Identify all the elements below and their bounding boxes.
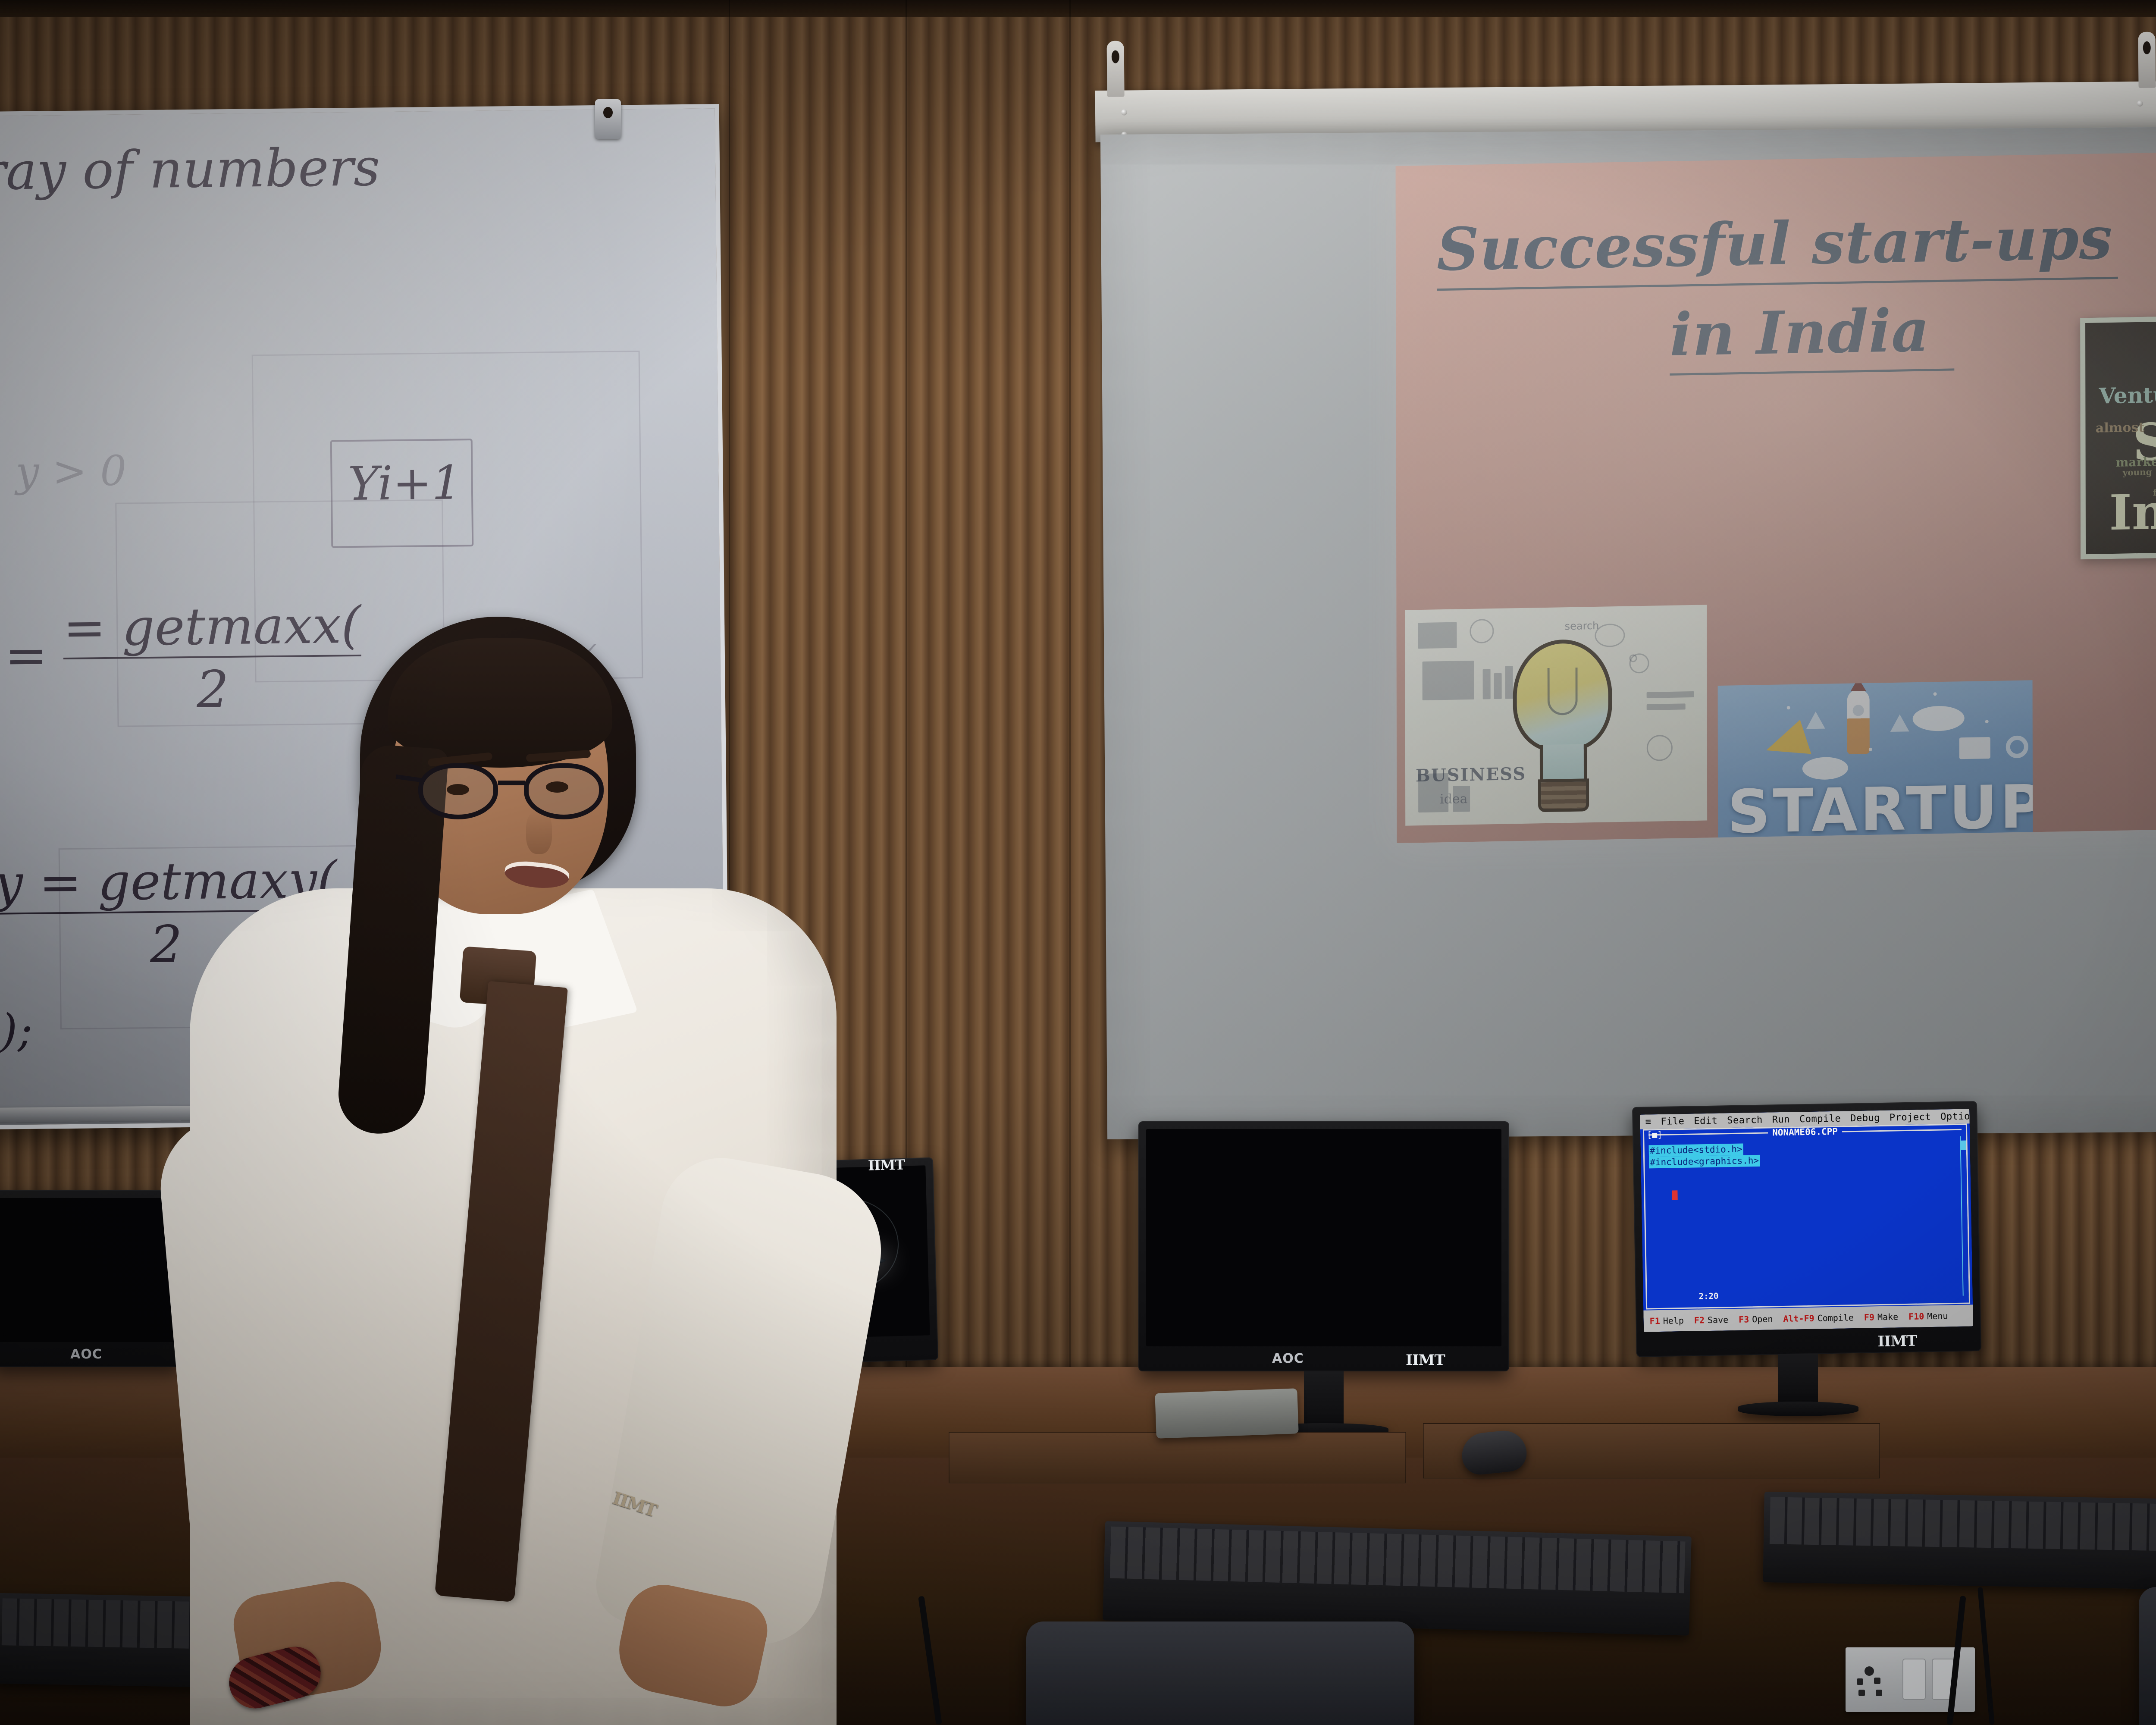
chair[interactable] [2139,1587,2156,1725]
word-cloud-term: Venture [2099,383,2156,407]
ide-cursor-position: 2:20 [1698,1292,1718,1302]
monitor-4-tag: IIMT [1877,1333,1917,1351]
paper-plane-icon [1761,720,1811,768]
ide-code-line-1: #include<stdio.h> [1649,1144,1743,1157]
lightbulb-base [1538,778,1589,812]
ide-status-f9: F9Make [1864,1311,1899,1322]
glasses-bridge [498,781,525,785]
ide-edit-window[interactable]: NONAME06.CPP [■] #include<stdio.h> #incl… [1643,1123,1970,1309]
ide-menu-compile[interactable]: Compile [1799,1113,1841,1125]
chair[interactable] [1026,1621,1414,1725]
keyboard-keys[interactable] [1110,1527,1686,1593]
ide-menu-system-icon[interactable]: ≡ [1645,1117,1651,1127]
keyboard-tray[interactable] [1103,1521,1692,1636]
word-cloud-term: almost [2096,421,2144,435]
eye-left [447,784,469,795]
word-cloud-term: face [2153,488,2156,497]
monitor-1: AOC [0,1190,181,1367]
ide-menu-search[interactable]: Search [1727,1114,1763,1126]
desk-panel [949,1432,1406,1483]
glasses [418,763,604,819]
lightbulb-neck [1540,744,1587,782]
turbo-cpp-ide[interactable]: ≡ File Edit Search Run Compile Debug Pro… [1640,1109,1973,1332]
gear-icon [2006,735,2028,758]
ide-code-line-2: #include<graphics.h> [1649,1155,1760,1168]
monitor-3: AOC IIMT [1138,1121,1509,1371]
startup-banner-text: STARTUP [1727,772,2033,841]
ide-status-f1: F1Help [1649,1315,1684,1326]
arrow-up-icon [1806,712,1825,729]
slide-image-lightbulb-doodle: BUSINESS idea search [1405,605,1707,825]
ide-menu-debug[interactable]: Debug [1850,1112,1880,1123]
ide-vertical-scrollbar[interactable] [1960,1136,1968,1296]
socket-holes [1855,1663,1896,1697]
doodle-business-label: BUSINESS [1416,764,1526,786]
screen-bracket-right [2138,32,2156,88]
laptop-icon [1959,737,1990,759]
word-cloud-term: India [2109,486,2156,537]
whiteboard-mount-clip [595,99,621,139]
projected-slide: Successful start-ups in India StartupsIn… [1396,148,2156,844]
ide-status-f3: F3Open [1739,1314,1773,1324]
screen-bracket-left [1107,41,1125,97]
monitor-4-brand [1636,1346,1981,1352]
monitor-4-base [1738,1402,1858,1416]
projector-screen: Successful start-ups in India StartupsIn… [1100,124,2156,1139]
socket-switch[interactable] [1902,1659,1926,1700]
ide-code-area[interactable]: #include<stdio.h> #include<graphics.h> [1649,1140,1957,1168]
word-cloud-term: young [2123,467,2152,477]
doodle-idea-label: idea [1440,791,1468,807]
ide-menu-options[interactable]: Options [1940,1110,1973,1122]
monitor-3-brand: AOC [1138,1351,1509,1366]
wb-note-trailing: ); [0,1004,33,1057]
slide-title: Successful start-ups in India [1437,204,2156,379]
wb-note-yi1: Yi+1 [348,456,461,511]
ide-menu-project[interactable]: Project [1890,1111,1931,1123]
classroom-photo-scene: rray of numbers Yi+1 = = getmaxx( 2 y = … [0,0,2156,1725]
ide-status-altf9: Alt-F9Compile [1783,1312,1854,1324]
monitor-3-stand [1304,1371,1344,1427]
monitor-3-tag: IIMT [1406,1352,1445,1369]
keyboard-keys[interactable] [1770,1497,2156,1553]
ide-menu-run[interactable]: Run [1772,1114,1790,1125]
nose [526,811,552,854]
ide-close-box-icon[interactable]: [■] [1647,1129,1663,1140]
rocket-icon [1847,689,1870,754]
ide-menu-file[interactable]: File [1661,1116,1684,1127]
ide-filename: NONAME06.CPP [1772,1126,1838,1138]
monitor-4-stand [1778,1354,1818,1406]
monitor-1-brand: AOC [0,1347,181,1362]
slide-title-line1: Successful start-ups [1437,205,2118,291]
ide-menu-edit[interactable]: Edit [1694,1115,1717,1126]
slide-image-word-cloud: StartupsIndiaentrepreneurschallengestech… [2080,312,2156,559]
wb-note-faint-1: y > 0 [16,447,127,496]
desk-object-box [1155,1388,1298,1438]
eye-right [546,781,568,793]
monitor-4: ≡ File Edit Search Run Compile Debug Pro… [1632,1101,1981,1357]
ide-status-f2: F2Save [1694,1314,1729,1325]
ide-status-f10: F10Menu [1908,1311,1948,1322]
lightbulb-filament [1548,668,1578,715]
wb-note-heading: rray of numbers [0,138,380,202]
arrow-up-icon [1890,714,1909,732]
ide-text-cursor [1672,1190,1677,1200]
slide-title-line2: in India [1670,298,1954,376]
student-presenter: IIMT [164,604,897,1725]
ide-statusbar[interactable]: F1Help F2Save F3Open Alt-F9Compile F9Mak… [1643,1305,1973,1332]
cloud-icon [1913,706,1965,731]
keyboard-tray[interactable] [1763,1492,2156,1592]
slide-image-startup-banner: STARTUP [1718,680,2033,841]
doodle-search-label: search [1565,620,1599,632]
